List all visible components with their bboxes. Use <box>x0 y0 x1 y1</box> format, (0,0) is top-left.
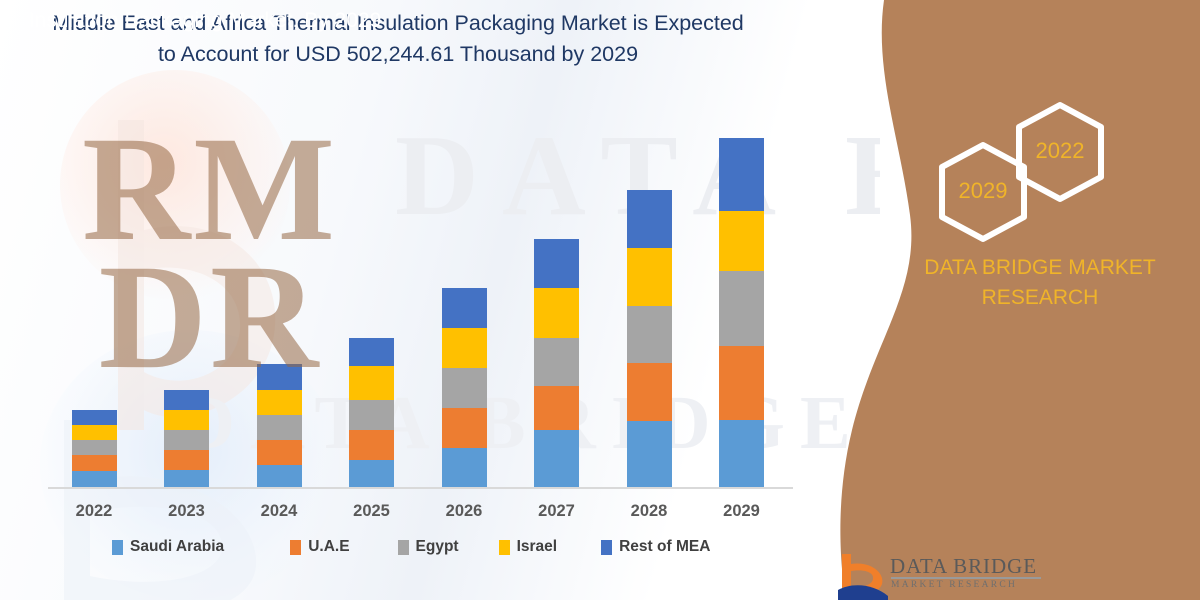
bar-segment-rest-of-mea <box>349 338 394 366</box>
bar-segment-egypt <box>257 415 302 440</box>
stacked-bar <box>627 190 672 488</box>
legend-item-saudi-arabia[interactable]: Saudi Arabia <box>112 538 224 556</box>
legend-item-israel[interactable]: Israel <box>499 538 558 556</box>
bar-column-2029 <box>696 120 788 488</box>
bar-segment-egypt <box>349 400 394 430</box>
bar-segment-rest-of-mea <box>627 190 672 248</box>
bar-segment-israel <box>349 366 394 400</box>
stacked-bar <box>72 410 117 488</box>
chart-panel: DATA BRIDGE DATA BRIDGE MARKET RESEARCH … <box>0 0 880 600</box>
stacked-bar <box>442 288 487 488</box>
bar-segment-saudi-arabia <box>257 465 302 488</box>
bar-column-2022 <box>48 120 140 488</box>
stacked-bar <box>257 364 302 488</box>
bar-segment-u-a-e <box>257 440 302 465</box>
bar-segment-israel <box>534 288 579 338</box>
bar-segment-israel <box>442 328 487 368</box>
bar-segment-saudi-arabia <box>164 470 209 488</box>
stacked-bar <box>349 338 394 488</box>
hexagon-label-far: 2022 <box>1013 138 1107 164</box>
bar-segment-rest-of-mea <box>257 364 302 390</box>
x-tick-2028: 2028 <box>603 502 695 521</box>
legend-swatch-icon <box>601 540 612 555</box>
legend-label: Egypt <box>416 538 459 556</box>
logo-wordmark: DATA BRIDGE <box>890 554 1037 579</box>
bar-segment-egypt <box>627 306 672 363</box>
bar-column-2027 <box>511 120 603 488</box>
bar-segment-u-a-e <box>627 363 672 421</box>
bar-segment-rest-of-mea <box>442 288 487 328</box>
bar-segment-israel <box>257 390 302 415</box>
bar-column-2024 <box>233 120 325 488</box>
x-axis-tick-labels: 20222023202420252026202720282029 <box>48 497 788 527</box>
legend-item-u-a-e[interactable]: U.A.E <box>290 538 349 556</box>
hexagon-badge-2022: 2022 <box>1013 100 1107 209</box>
x-tick-2025: 2025 <box>326 502 418 521</box>
x-tick-2024: 2024 <box>233 502 325 521</box>
bar-segment-saudi-arabia <box>72 471 117 488</box>
bar-segment-saudi-arabia <box>442 448 487 488</box>
infographic-canvas: DATA BRIDGE DATA BRIDGE MARKET RESEARCH … <box>0 0 1200 600</box>
plot-area <box>48 120 788 488</box>
legend-label: Saudi Arabia <box>130 538 224 556</box>
stacked-bar <box>719 138 764 488</box>
bar-segment-israel <box>164 410 209 430</box>
legend-swatch-icon <box>398 540 409 555</box>
bar-segment-u-a-e <box>72 455 117 471</box>
bar-segment-saudi-arabia <box>719 420 764 488</box>
stacked-bar <box>534 239 579 488</box>
bar-segment-saudi-arabia <box>349 460 394 488</box>
bar-column-2023 <box>141 120 233 488</box>
bar-column-2025 <box>326 120 418 488</box>
bar-segment-saudi-arabia <box>534 430 579 488</box>
bar-segment-egypt <box>72 440 117 455</box>
bar-segment-saudi-arabia <box>627 421 672 488</box>
bar-segment-u-a-e <box>164 450 209 470</box>
stacked-bar <box>164 390 209 488</box>
x-tick-2023: 2023 <box>141 502 233 521</box>
bar-column-2028 <box>603 120 695 488</box>
legend-swatch-icon <box>112 540 123 555</box>
bar-segment-israel <box>627 248 672 306</box>
x-axis-line <box>48 487 793 489</box>
bar-segment-israel <box>72 425 117 440</box>
logo-divider <box>891 577 1041 579</box>
bar-segment-u-a-e <box>349 430 394 460</box>
bar-segment-rest-of-mea <box>72 410 117 425</box>
x-tick-2022: 2022 <box>48 502 140 521</box>
bar-segment-egypt <box>164 430 209 450</box>
bar-segment-egypt <box>719 271 764 346</box>
legend-label: Rest of MEA <box>619 538 710 556</box>
bar-segment-rest-of-mea <box>719 138 764 211</box>
bar-segment-egypt <box>442 368 487 408</box>
data-bridge-logo: DATA BRIDGE MARKET RESEARCH <box>838 552 1178 600</box>
bar-column-2026 <box>418 120 510 488</box>
bar-segment-rest-of-mea <box>534 239 579 288</box>
bar-segment-rest-of-mea <box>164 390 209 410</box>
bar-segment-u-a-e <box>534 386 579 430</box>
legend-item-egypt[interactable]: Egypt <box>398 538 459 556</box>
bar-segment-egypt <box>534 338 579 386</box>
bar-segment-israel <box>719 211 764 271</box>
x-tick-2027: 2027 <box>511 502 603 521</box>
bar-segment-u-a-e <box>442 408 487 448</box>
legend-swatch-icon <box>499 540 510 555</box>
brand-panel-title: Insulation Packaging Market, By 2029 <box>20 6 390 36</box>
legend-swatch-icon <box>290 540 301 555</box>
x-tick-2029: 2029 <box>696 502 788 521</box>
brand-name-text: DATA BRIDGE MARKET RESEARCH <box>900 253 1180 313</box>
legend-item-rest-of-mea[interactable]: Rest of MEA <box>601 538 710 556</box>
x-tick-2026: 2026 <box>418 502 510 521</box>
logo-mark-icon <box>838 552 888 600</box>
logo-tagline: MARKET RESEARCH <box>891 580 1017 590</box>
legend-label: U.A.E <box>308 538 349 556</box>
chart-legend: Saudi ArabiaU.A.EEgyptIsraelRest of MEA <box>72 538 710 556</box>
legend-label: Israel <box>517 538 558 556</box>
bar-segment-u-a-e <box>719 346 764 420</box>
